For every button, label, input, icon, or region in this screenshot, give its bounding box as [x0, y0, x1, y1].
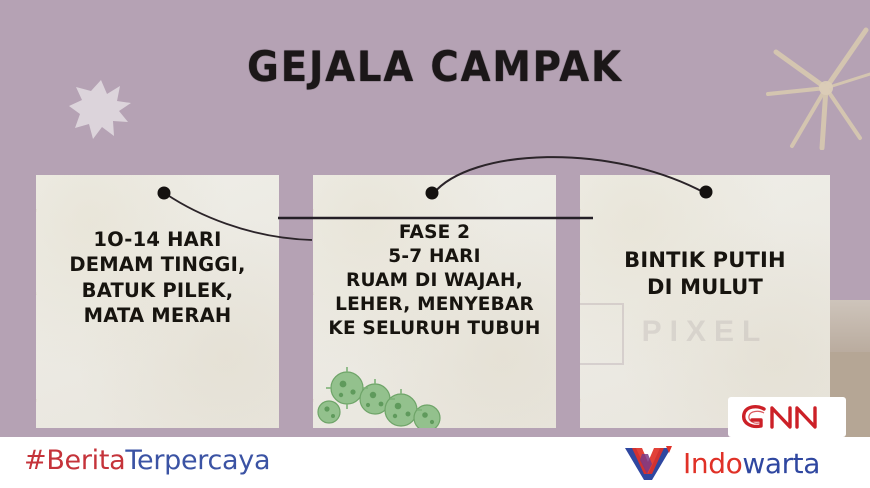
card-stage-2-text: FASE 2 5-7 HARI RUAM DI WAJAH, LEHER, ME… [313, 175, 556, 341]
cnn-logo-icon [737, 402, 837, 432]
hashtag-suffix: Terpercaya [125, 445, 270, 476]
page-title: GEJALA CAMPAK [35, 42, 835, 91]
cnn-logo-badge [728, 397, 846, 437]
hashtag-block: #BeritaTerpercaya [24, 445, 270, 476]
card-stage-1-text: 1O-14 HARI DEMAM TINGGI, BATUK PILEK, MA… [36, 175, 279, 328]
card-stage-3-text: BINTIK PUTIH DI MULUT [580, 175, 830, 302]
indowarta-wordmark: Indowarta [683, 447, 820, 480]
watermark-text: PIXEL [580, 301, 830, 363]
card-stage-1: 1O-14 HARI DEMAM TINGGI, BATUK PILEK, MA… [36, 175, 279, 428]
brand-word-second: warta [742, 447, 820, 480]
hashtag-prefix: #Berita [24, 445, 125, 476]
infographic-stage: GEJALA CAMPAK 1O-14 HARI DEMAM TINGGI, B… [0, 0, 870, 488]
indowarta-brand[interactable]: Indowarta [622, 441, 820, 485]
card-stage-3: PIXEL BINTIK PUTIH DI MULUT [580, 175, 830, 428]
card-stage-2: FASE 2 5-7 HARI RUAM DI WAJAH, LEHER, ME… [313, 175, 556, 428]
indowarta-logo-icon [622, 444, 674, 482]
virus-cluster-icon [313, 354, 556, 428]
brand-word-first: Indo [683, 447, 742, 480]
